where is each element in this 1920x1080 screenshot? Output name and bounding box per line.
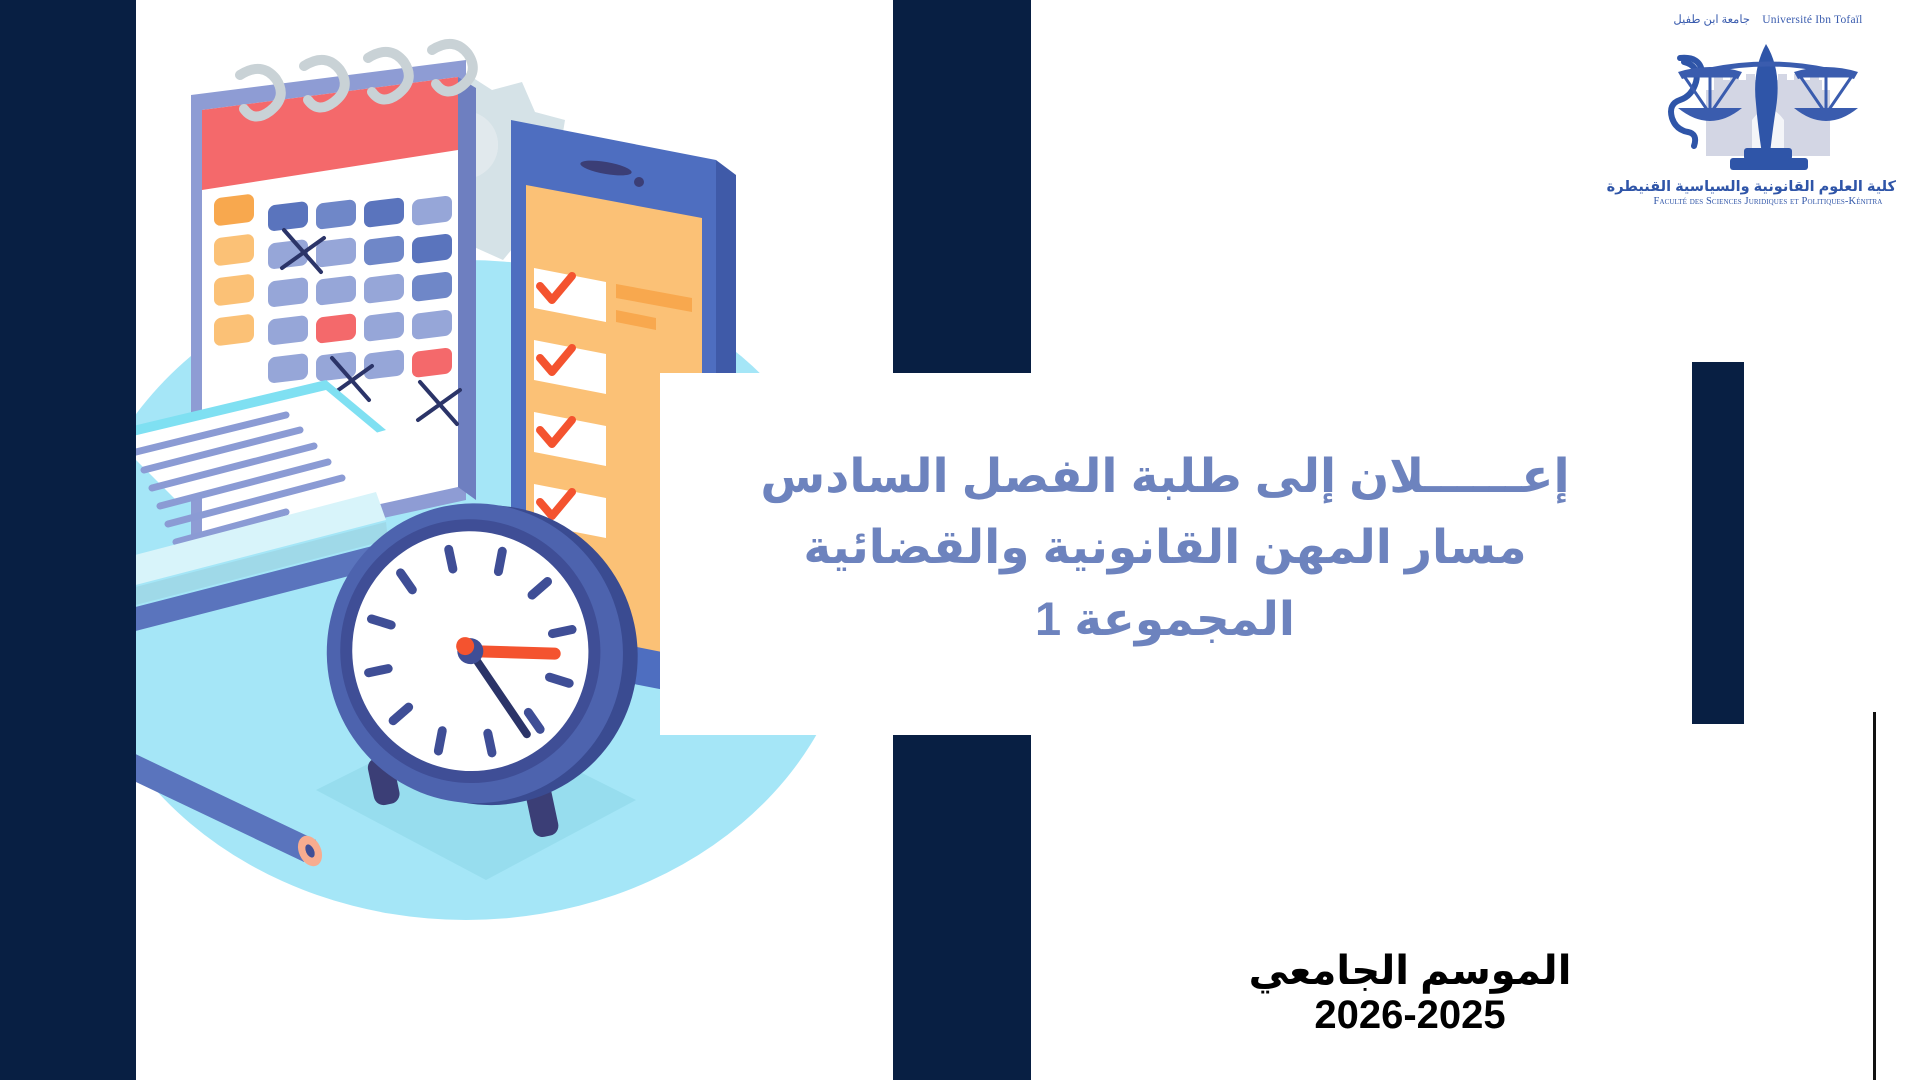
university-name-bilingual: Université Ibn Tofaïl جامعة ابن طفيل: [1640, 12, 1896, 26]
academic-season-label: الموسم الجامعي: [1060, 950, 1760, 992]
announcement-poster: إعــــــلان إلى طلبة الفصل السادس مسار ا…: [0, 0, 1920, 1080]
title-card: إعــــــلان إلى طلبة الفصل السادس مسار ا…: [660, 373, 1670, 735]
phone-camera: [634, 177, 644, 187]
university-name-fr: Université Ibn Tofaïl: [1762, 14, 1862, 26]
decorative-bar-middle-bottom: [893, 735, 1031, 1080]
decorative-bar-right: [1692, 362, 1744, 724]
university-name-ar: جامعة ابن طفيل: [1673, 14, 1750, 26]
decorative-hairline: [1873, 712, 1876, 1080]
decorative-bar-middle-top: [893, 0, 1031, 378]
page-title-line-1: إعــــــلان إلى طلبة الفصل السادس: [760, 440, 1569, 511]
faculty-name-ar: كلية العلوم القانونية والسياسية القنيطرة: [1640, 179, 1896, 195]
faculty-name-fr: Faculté des Sciences Juridiques et Polit…: [1640, 196, 1896, 207]
page-title-line-3: المجموعة 1: [1035, 583, 1295, 654]
university-logo: Université Ibn Tofaïl جامعة ابن طفيل: [1640, 12, 1896, 207]
decorative-bar-left: [0, 0, 136, 1080]
academic-year-value: 2026-2025: [1060, 992, 1760, 1038]
academic-year-block: الموسم الجامعي 2026-2025: [1060, 950, 1760, 1038]
scales-of-justice-emblem: [1640, 28, 1896, 178]
page-title-line-2: مسار المهن القانونية والقضائية: [803, 511, 1526, 582]
